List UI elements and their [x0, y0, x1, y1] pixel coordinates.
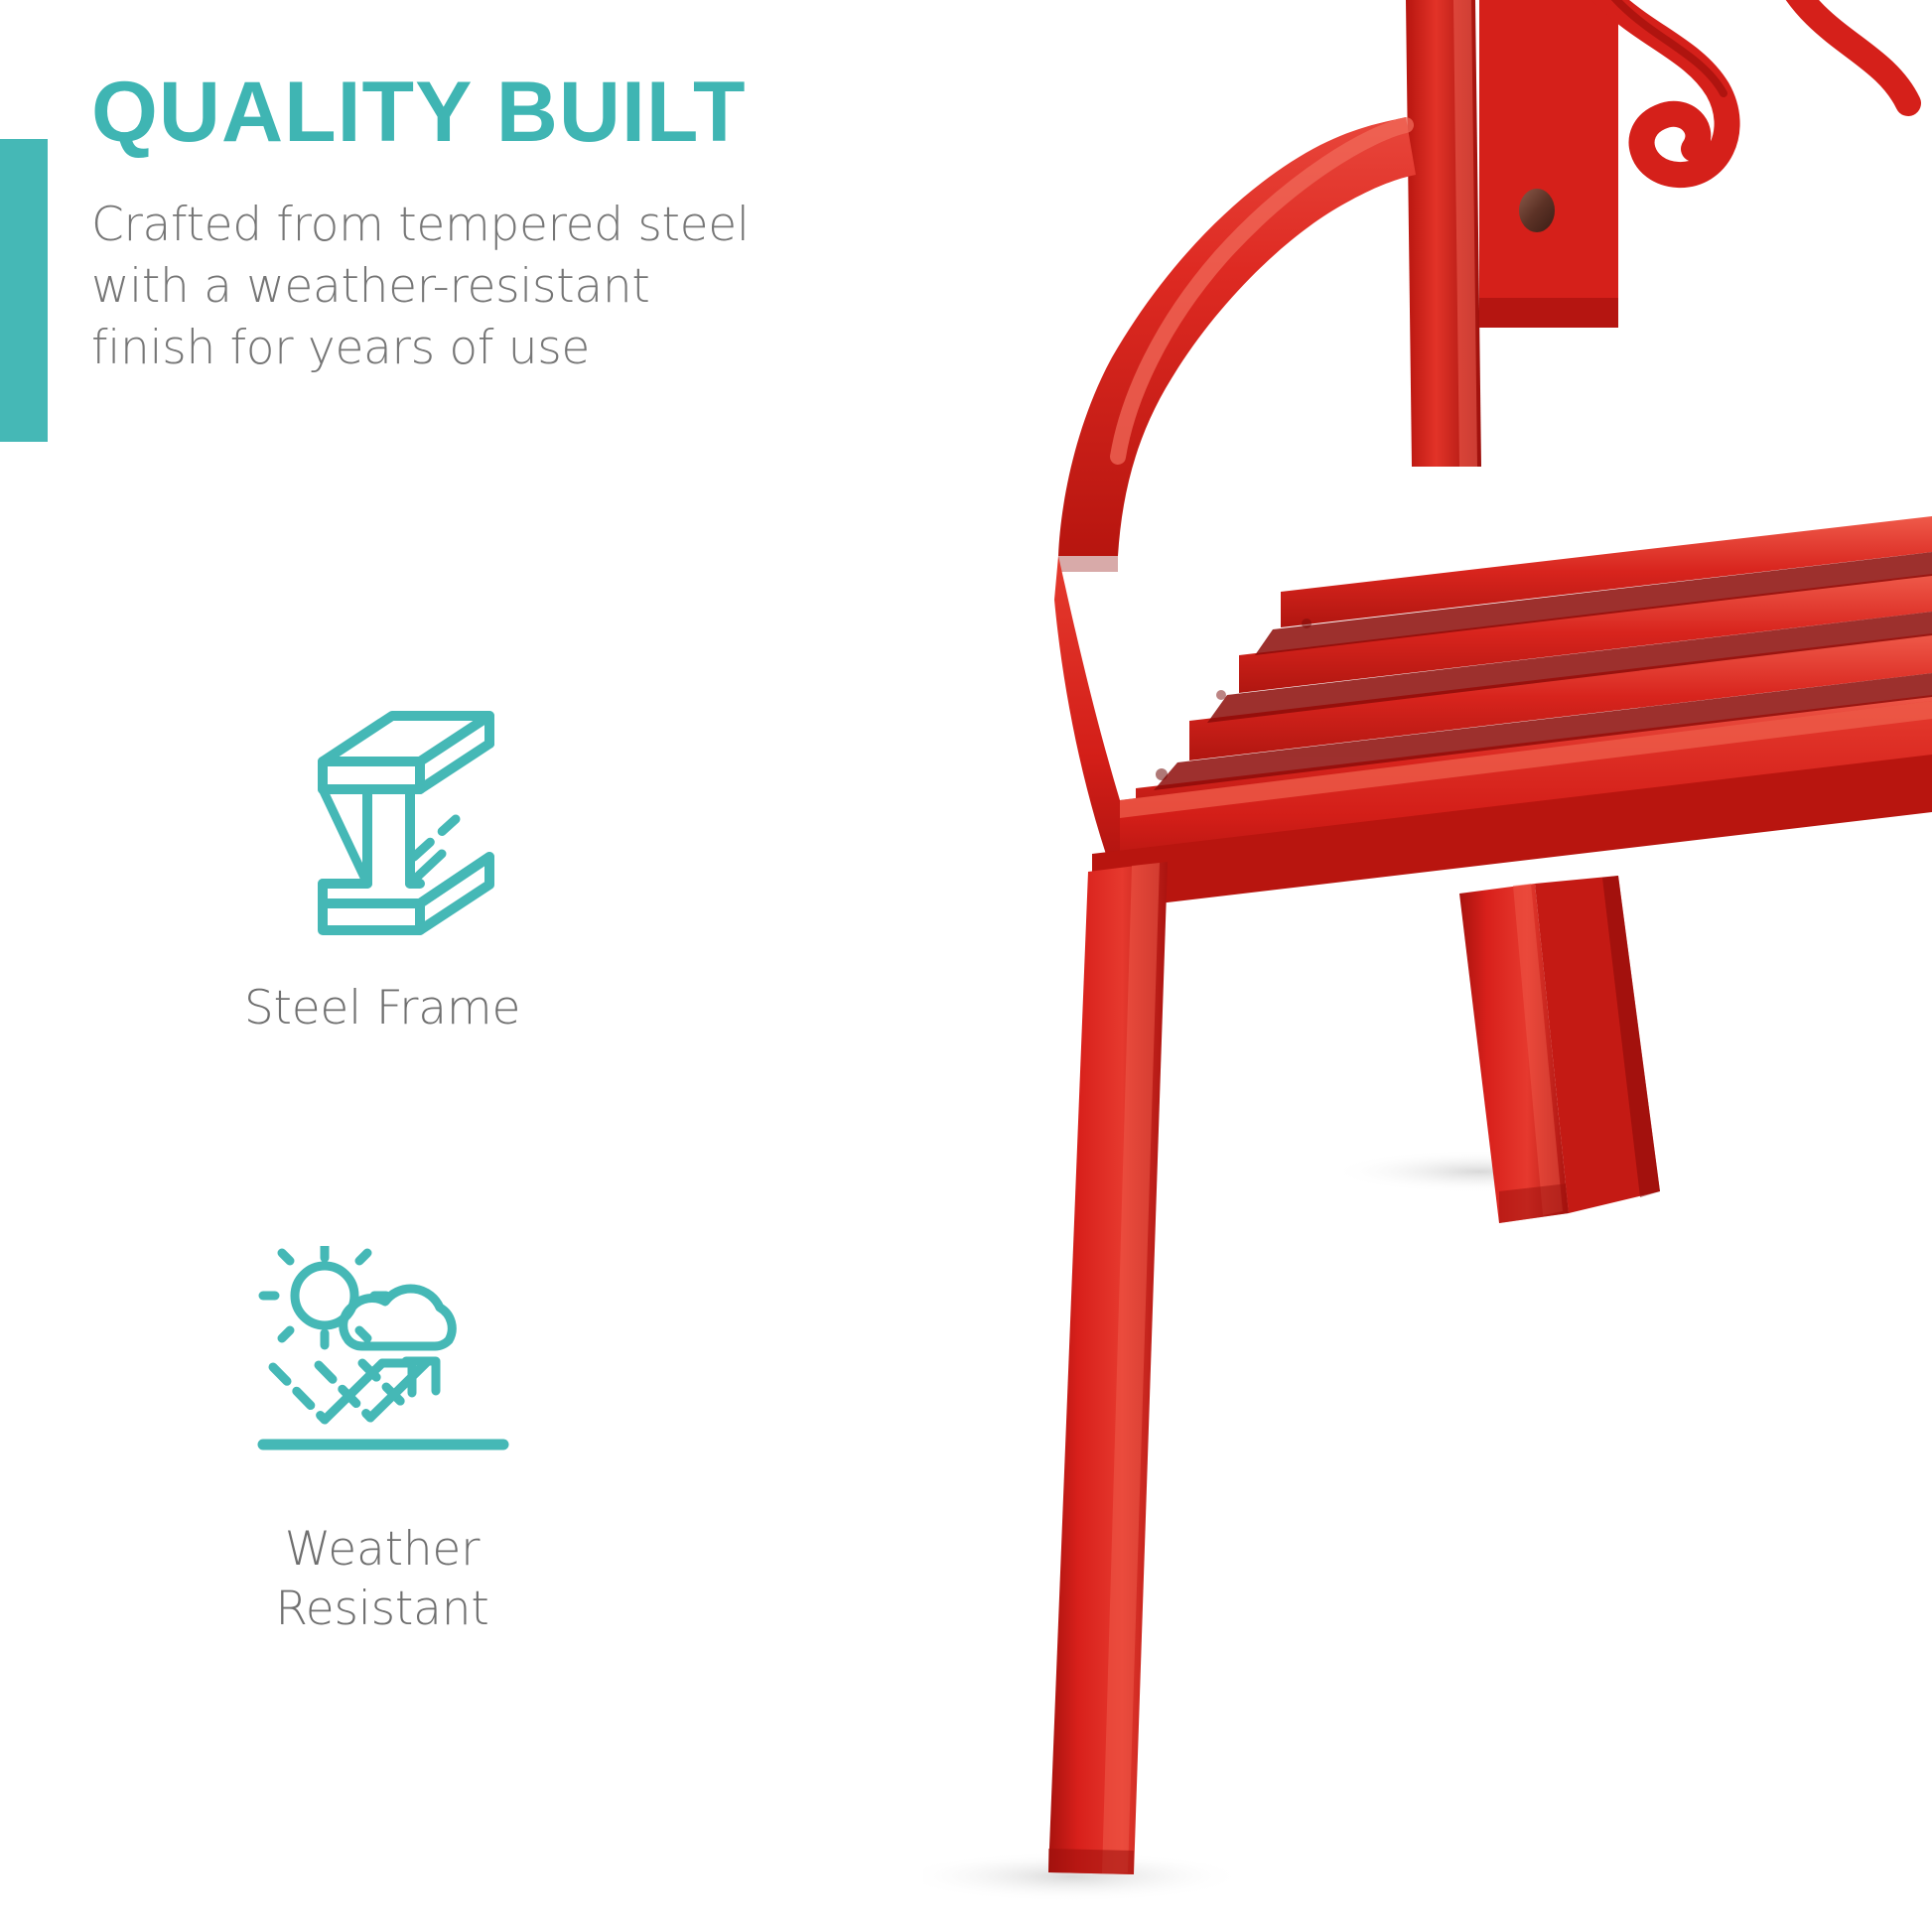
teal-accent-bar: [0, 139, 48, 442]
feature-weather-resistant: Weather Resistant: [0, 1236, 764, 1639]
subtitle-line-2: with a weather-resistant: [91, 256, 915, 318]
subtitle-line-1: Crafted from tempered steel: [91, 195, 915, 256]
feature-weather-resistant-label-line-2: Resistant: [0, 1580, 764, 1639]
product-feature-banner: QUALITY BUILT Crafted from tempered stee…: [0, 0, 1932, 1932]
feature-steel-frame-label: Steel Frame: [0, 979, 764, 1038]
info-panel: QUALITY BUILT Crafted from tempered stee…: [0, 0, 953, 1932]
bolt: [1519, 189, 1555, 232]
subtitle: Crafted from tempered steel with a weath…: [91, 195, 915, 379]
feature-weather-resistant-label-line-1: Weather: [0, 1520, 764, 1580]
steel-beam-icon: [0, 695, 764, 953]
weld-dot-1: [1302, 619, 1311, 628]
weld-dot-2: [1216, 690, 1226, 700]
front-leg-foot: [1048, 1849, 1134, 1874]
feature-steel-frame: Steel Frame: [0, 695, 764, 1038]
page-title: QUALITY BUILT: [91, 69, 886, 157]
decorative-scroll: [1579, 0, 1908, 175]
backrest-side-panel: [1479, 0, 1618, 328]
backrest-side-panel-edge: [1479, 298, 1618, 328]
feature-steel-frame-label-line-1: Steel Frame: [0, 979, 764, 1038]
armrest-shadow-edge: [1058, 556, 1118, 572]
subtitle-line-3: finish for years of use: [91, 318, 915, 379]
product-photo: [923, 0, 1932, 1932]
weld-dot-3: [1156, 768, 1168, 780]
seat-left-curve: [1054, 556, 1120, 894]
weather-resistant-icon: [0, 1236, 764, 1494]
feature-weather-resistant-label: Weather Resistant: [0, 1520, 764, 1639]
armrest: [1058, 117, 1416, 556]
red-bench-illustration: [923, 0, 1932, 1932]
